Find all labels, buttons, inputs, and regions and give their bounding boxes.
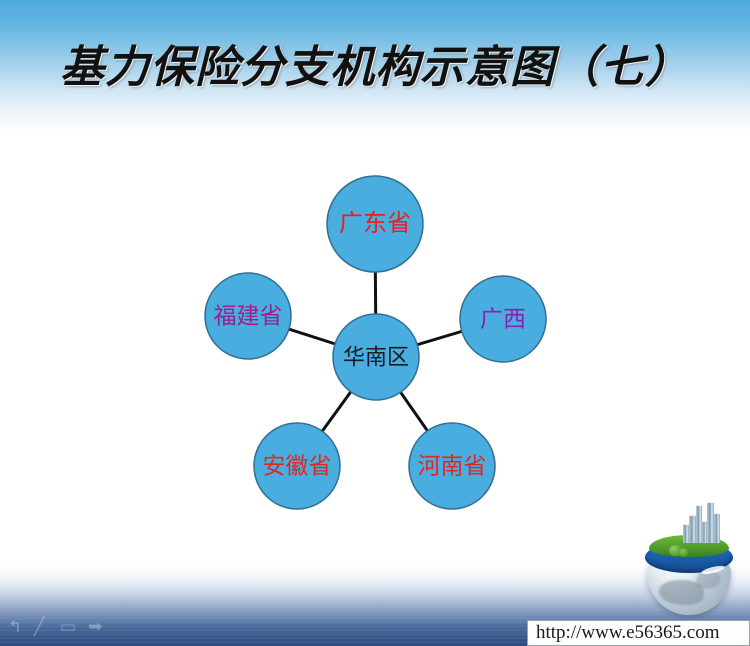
globe-building-6	[683, 524, 689, 543]
presentation-slide: 基力保险分支机构示意图（七） 广东省 福建省 广西	[0, 0, 750, 646]
node-guangdong[interactable]: 广东省	[327, 176, 423, 272]
globe-building-4	[707, 502, 714, 543]
globe-building-1	[689, 515, 696, 543]
node-label-fujian: 福建省	[214, 304, 283, 329]
eco-globe-icon	[640, 523, 738, 615]
globe-building-5	[714, 513, 720, 543]
sea-glyph-arrow-back: ↰	[8, 619, 22, 636]
node-label-guangxi: 广西	[480, 307, 526, 332]
sea-glyph-rectangle: ▭	[60, 619, 76, 636]
diagram-canvas: 广东省 福建省 广西 安徽省 河南省 华南区	[0, 0, 750, 646]
node-center-huanan[interactable]: 华南区	[333, 314, 419, 400]
node-fujian[interactable]: 福建省	[205, 273, 291, 359]
node-label-henan: 河南省	[418, 454, 487, 479]
globe-tree-icon-2	[679, 548, 689, 557]
globe-landmass-2	[696, 571, 721, 589]
sea-glyph-arrow-forward: ➡	[88, 619, 102, 636]
org-structure-diagram: 广东省 福建省 广西 安徽省 河南省 华南区	[0, 0, 750, 646]
node-guangxi[interactable]: 广西	[460, 276, 546, 362]
watermark-url-text: http://www.e56365.com	[536, 622, 719, 644]
globe-grass-platform	[649, 535, 729, 557]
node-label-guangdong: 广东省	[339, 210, 411, 237]
node-henan[interactable]: 河南省	[409, 423, 495, 509]
sea-glyph-slash: ╱	[34, 619, 44, 636]
watermark-url-banner: http://www.e56365.com	[527, 620, 750, 646]
node-label-huanan: 华南区	[343, 345, 409, 370]
node-anhui[interactable]: 安徽省	[254, 423, 340, 509]
node-label-anhui: 安徽省	[263, 454, 332, 479]
